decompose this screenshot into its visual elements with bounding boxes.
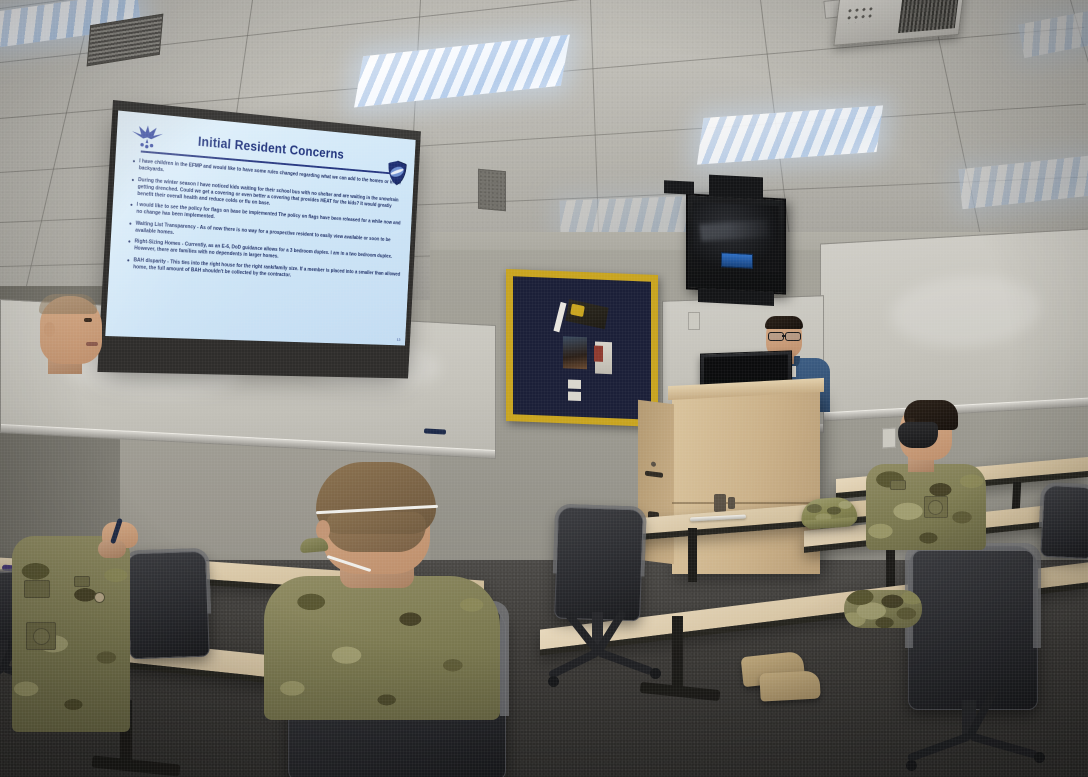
speaker-hair [765,316,803,329]
presenter-eye [84,318,92,322]
ocp-patrol-cap[interactable] [299,537,328,553]
podium-lock[interactable] [651,461,656,467]
office-chair[interactable] [1040,485,1088,560]
projection-screen: Initial Resident Concerns • I have child… [104,110,416,369]
combat-boot [759,670,820,701]
chair-caster [1034,752,1045,763]
bullet-marker: • [132,158,135,172]
classroom-scene: Initial Resident Concerns • I have child… [0,0,1088,777]
presenter-ear [44,322,55,337]
office-chair[interactable] [554,507,644,622]
table-leg [672,616,683,690]
bulletin-card [568,379,581,389]
eyeglasses-bridge [782,335,785,337]
eyeglasses-icon [768,332,784,341]
tv-glare [699,220,769,242]
tv-mount-arm [664,180,694,195]
slide-bullet-list: • I have children in the EFMP and would … [126,158,405,289]
presentation-slide: Initial Resident Concerns • I have child… [105,110,415,345]
rank-insignia [74,576,90,587]
tv-mount [709,175,763,200]
chair-caster [548,676,559,687]
unit-insignia [33,628,50,645]
bulletin-poster [553,302,566,333]
office-chair[interactable] [908,546,1038,710]
unit-insignia [928,500,943,515]
bullet-marker: • [128,220,131,234]
podium-drawer-slot[interactable] [645,471,663,478]
wall-outlet-plate [688,312,700,330]
bullet-marker: • [127,238,130,252]
table-leg [688,528,697,582]
airman-eye [908,418,915,422]
seated-airman-right [866,392,996,552]
podium-latch[interactable] [728,497,735,509]
slide-page-number: 13 [397,337,401,342]
presenter-uniform-jacket [12,536,130,732]
presenter-mouth [86,342,98,346]
bullet-marker: • [130,201,133,215]
rank-insignia [890,480,906,490]
bulletin-poster [594,345,603,361]
eyeglasses-icon [785,332,801,341]
presenter-hair [39,294,97,314]
airman-uniform-jacket [866,464,986,550]
wall-mounted-display[interactable] [686,193,786,294]
bulletin-board-backing [513,276,651,420]
bullet-marker: • [126,256,129,270]
chair-caster [650,668,661,679]
face-mask [898,422,938,448]
standing-presenter [6,296,146,716]
bulletin-poster [563,336,587,369]
podium-latch[interactable] [714,494,726,512]
chair-caster [906,760,917,771]
shoulder-patch [24,580,50,598]
airman-uniform-back [264,576,500,720]
seated-airman-foreground [264,458,504,718]
bullet-marker: • [131,176,135,197]
airman-hair-nape [326,512,426,552]
tv-status-display [721,252,754,269]
bulletin-card [568,391,581,401]
badge-icon [94,592,105,603]
wall-speaker [478,169,506,211]
bulletin-board[interactable] [506,269,658,427]
airman-arm [844,590,922,628]
whiteboard-marker[interactable] [424,428,446,434]
